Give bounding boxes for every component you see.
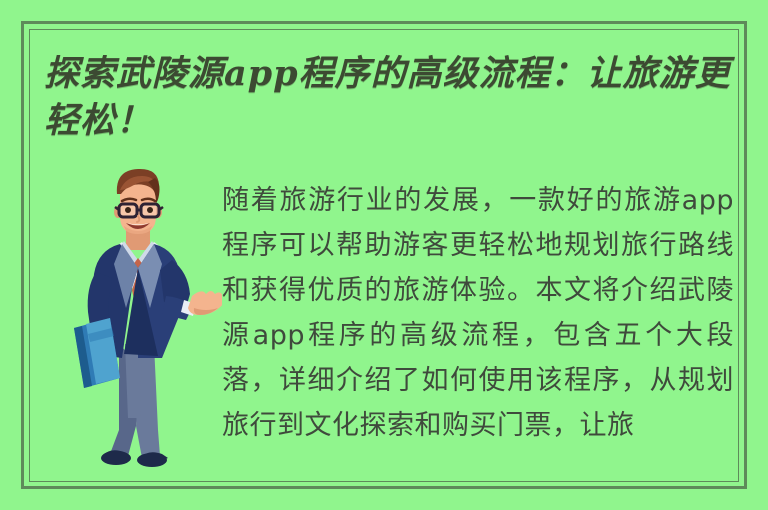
businessman-illustration <box>62 168 222 478</box>
body-paragraph: 随着旅游行业的发展，一款好的旅游app程序可以帮助游客更轻松地规划旅行路线和获得… <box>222 178 734 486</box>
page-title: 探索武陵源app程序的高级流程：让旅游更轻松！ <box>44 50 744 144</box>
poster-canvas: 探索武陵源app程序的高级流程：让旅游更轻松！ <box>0 0 768 510</box>
